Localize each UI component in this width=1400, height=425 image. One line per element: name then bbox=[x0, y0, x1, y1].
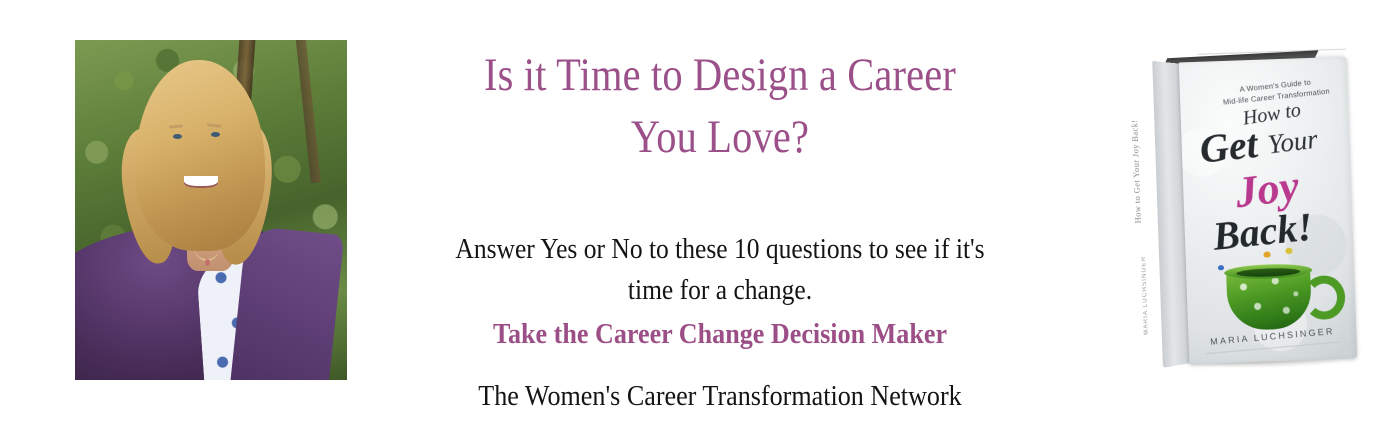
page-title: Is it Time to Design a Career You Love? bbox=[410, 44, 1029, 168]
promo-banner: Is it Time to Design a Career You Love? … bbox=[0, 0, 1400, 425]
book-cover-image: How to Get Your Joy Back! MARIA LUCHSING… bbox=[1148, 52, 1358, 368]
message-column: Is it Time to Design a Career You Love? … bbox=[360, 0, 1080, 425]
network-name: The Women's Career Transformation Networ… bbox=[396, 379, 1044, 414]
eye-left bbox=[173, 134, 182, 139]
butterfly-icon bbox=[1263, 251, 1270, 257]
eyebrow-right bbox=[207, 123, 221, 127]
necklace bbox=[195, 237, 219, 261]
butterfly-icon bbox=[1218, 265, 1224, 270]
book-spine-author: MARIA LUCHSINGER bbox=[1141, 255, 1150, 335]
book-title-your: Your bbox=[1266, 124, 1319, 161]
book-title-back: Back! bbox=[1211, 203, 1315, 260]
cta-link[interactable]: Take the Career Change Decision Maker bbox=[396, 317, 1044, 352]
book-front-cover: A Women's Guide to Mid-life Career Trans… bbox=[1179, 57, 1357, 365]
author-headshot bbox=[75, 40, 347, 380]
smile bbox=[184, 176, 218, 188]
butterfly-icon bbox=[1285, 248, 1292, 254]
book-3d: How to Get Your Joy Back! MARIA LUCHSING… bbox=[1143, 48, 1364, 371]
body-copy: Answer Yes or No to these 10 questions t… bbox=[403, 229, 1037, 311]
